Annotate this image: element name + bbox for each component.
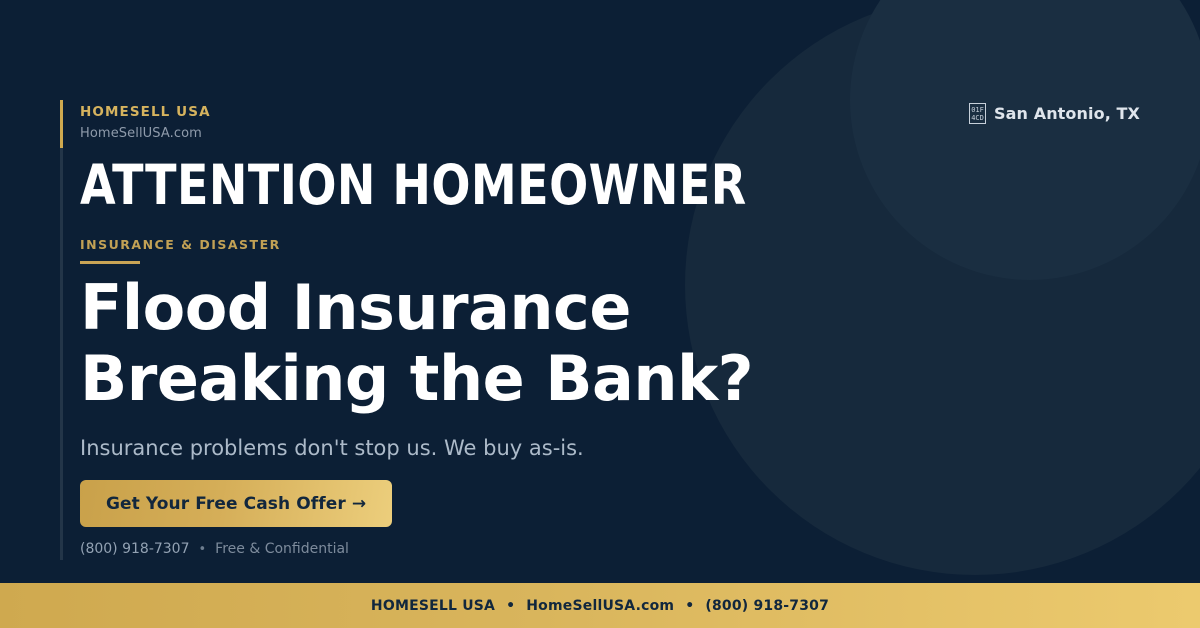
location-label: San Antonio, TX [994,104,1140,123]
decorative-circle-small [850,0,1200,280]
brand-name: HOMESELL USA [80,104,211,120]
footer-separator-1: • [506,598,515,614]
brand-website: HomeSellUSA.com [80,126,211,141]
pin-icon-codepoint-hi: 01F [971,106,984,114]
ad-banner: HOMESELL USA HomeSellUSA.com 01F 4CD San… [0,0,1200,628]
get-free-cash-offer-button[interactable]: Get Your Free Cash Offer → [80,480,392,527]
brand-block: HOMESELL USA HomeSellUSA.com [80,104,211,141]
footer-brand: HOMESELL USA [371,598,495,614]
pin-icon: 01F 4CD [969,103,986,124]
footer-website[interactable]: HomeSellUSA.com [526,598,674,614]
footer-phone[interactable]: (800) 918-7307 [705,598,829,614]
left-rail-line [60,100,63,560]
page-title: Flood Insurance Breaking the Bank? [80,272,753,414]
pin-icon-codepoint-lo: 4CD [971,114,984,122]
footer-bar: HOMESELL USA • HomeSellUSA.com • (800) 9… [0,583,1200,628]
left-rail-accent [60,100,63,148]
footnote-note: Free & Confidential [215,541,349,557]
location-badge: 01F 4CD San Antonio, TX [969,103,1140,124]
footnote-separator: • [199,542,207,557]
footer-separator-2: • [685,598,694,614]
decorative-circle-large [685,0,1200,575]
attention-headline: ATTENTION HOMEOWNER [80,158,747,213]
subheading: Insurance problems don't stop us. We buy… [80,436,584,460]
footnote: (800) 918-7307 • Free & Confidential [80,541,349,557]
eyebrow-rule [80,261,140,264]
footnote-phone[interactable]: (800) 918-7307 [80,541,190,557]
category-eyebrow: INSURANCE & DISASTER [80,237,281,252]
